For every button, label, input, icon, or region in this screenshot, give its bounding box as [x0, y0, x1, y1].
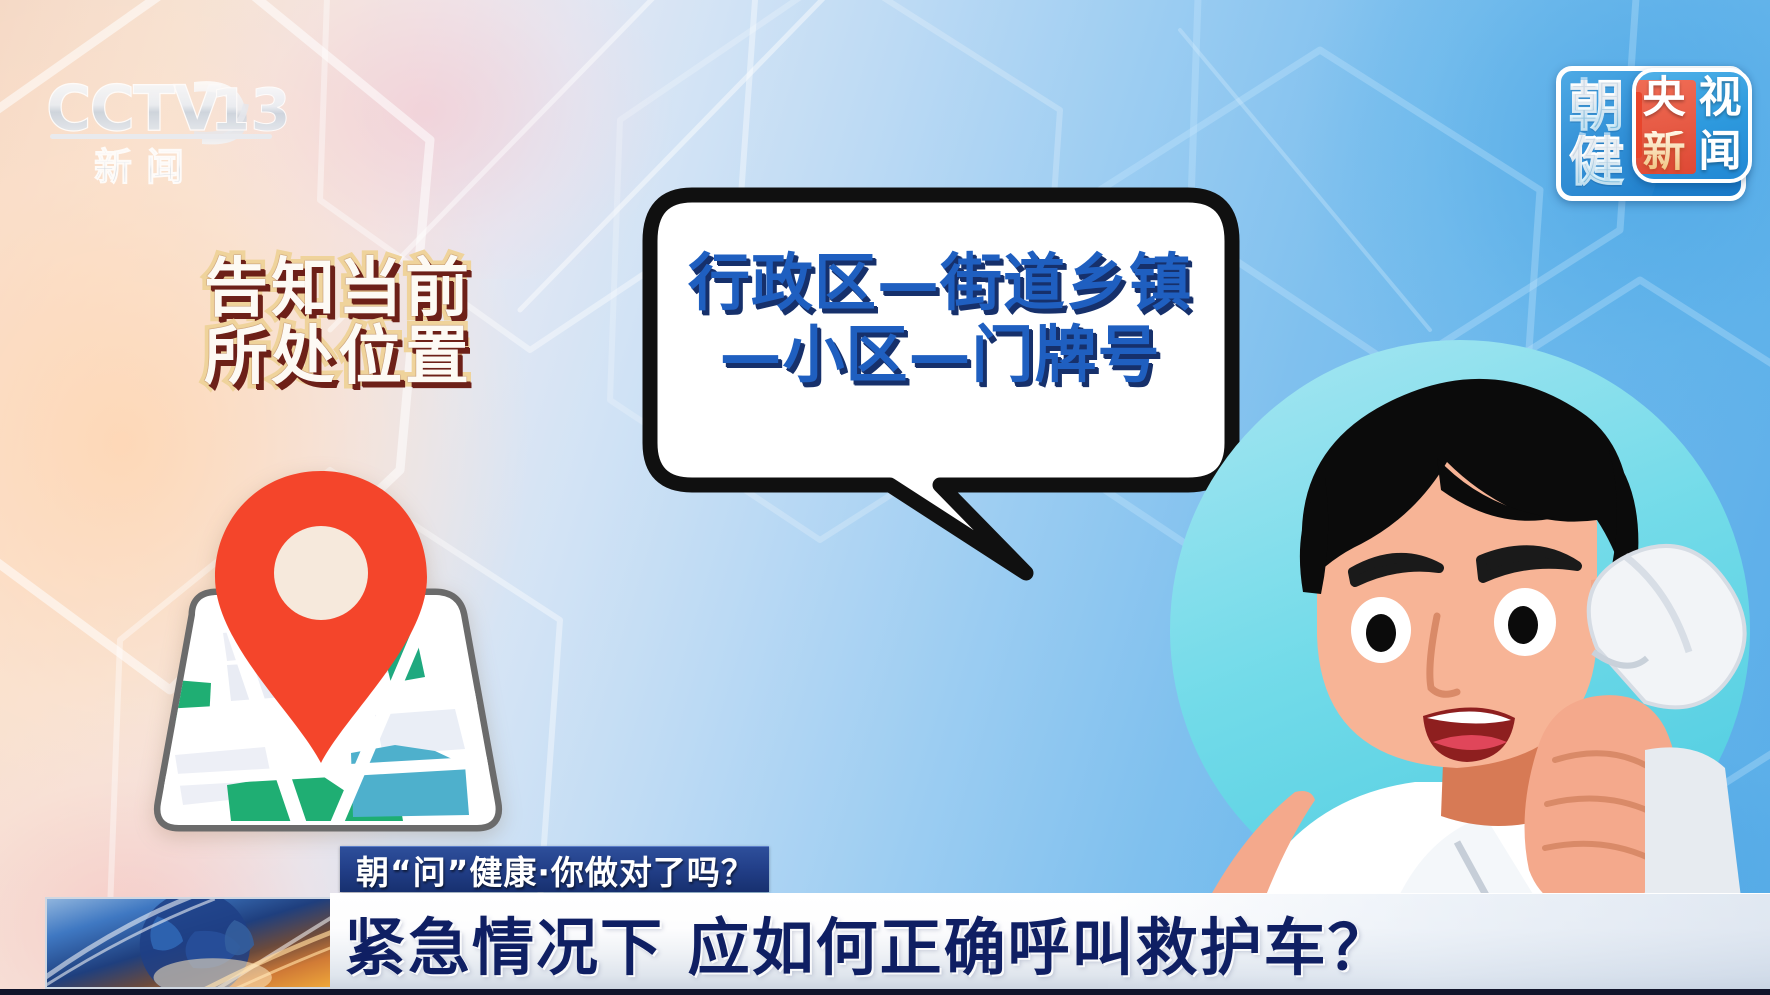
- program-subtitle-text: 朝“问”健康·你做对了吗？: [356, 846, 755, 894]
- kicker-line-2: 所处位置: [188, 324, 488, 392]
- headline-bar: 紧急情况下 应如何正确呼叫救护车？: [330, 893, 1770, 989]
- badge-char-4: 闻: [1699, 131, 1742, 174]
- program-logo-char-1: 朝: [1569, 80, 1625, 133]
- svg-text:13: 13: [210, 76, 291, 144]
- cctv-news-badge: 央 视 新 闻: [1632, 68, 1752, 183]
- speech-bubble-line-1: 行政区—街道乡镇: [640, 247, 1240, 319]
- badge-char-grid: 央 视 新 闻: [1636, 72, 1748, 179]
- svg-text:新闻: 新闻: [94, 145, 198, 187]
- program-logo: 朝 健 央 视 新 闻: [1556, 66, 1746, 201]
- headline-text: 紧急情况下 应如何正确呼叫救护车？: [344, 897, 1392, 987]
- lower-third: 朝“问”健康·你做对了吗？ 紧急情况下 应如何正确呼叫救护车？: [0, 875, 1770, 995]
- person-illustration: [1085, 330, 1770, 930]
- kicker-line-1: 告知当前: [188, 256, 488, 324]
- screen-bottom-edge: [0, 989, 1770, 995]
- news-globe-thumbnail: [45, 897, 337, 989]
- broadcast-screen: CCTV 13 新闻 朝 健 央 视 新 闻: [0, 0, 1770, 995]
- program-logo-char-2: 健: [1569, 135, 1625, 188]
- program-subtitle-bar: 朝“问”健康·你做对了吗？: [340, 846, 769, 892]
- kicker-heading: 告知当前 所处位置: [188, 256, 488, 392]
- badge-char-3: 新: [1643, 131, 1686, 174]
- badge-char-2: 视: [1699, 77, 1742, 120]
- badge-char-1: 央: [1643, 77, 1686, 120]
- map-location-icon: [135, 465, 525, 850]
- cctv13-channel-logo: CCTV 13 新闻: [42, 72, 292, 187]
